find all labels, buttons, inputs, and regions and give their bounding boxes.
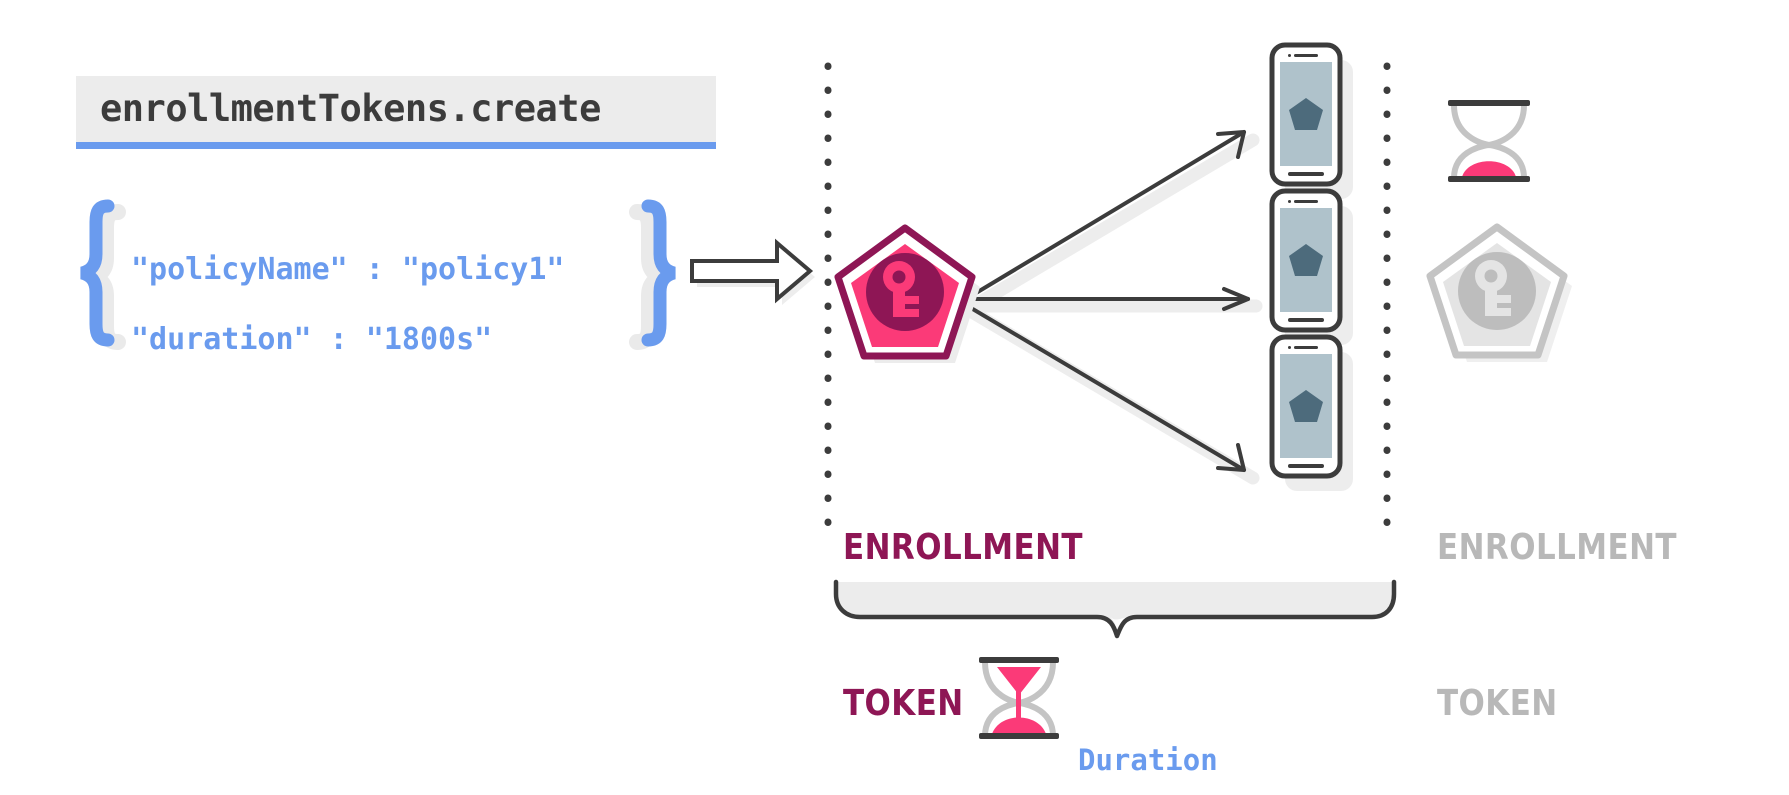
enrollment-token-label: ENROLLMENT TOKEN	[843, 418, 1083, 795]
api-header-label: enrollmentTokens.create	[100, 82, 720, 136]
hourglass-finished-icon	[1448, 100, 1530, 182]
request-body-line-1: "policyName" : "policy1"	[131, 252, 564, 287]
token-to-device-1-arrow	[966, 132, 1253, 307]
duration-callout-label: Duration 1800 seconds	[1078, 660, 1288, 795]
expires-label-line-1: ENROLLMENT	[1437, 522, 1677, 574]
enrollment-token-pentagon-key-icon	[838, 228, 980, 363]
request-body-open-brace	[82, 206, 118, 342]
duration-callout-line-1: Duration	[1078, 740, 1288, 780]
api-header-underline	[76, 142, 716, 149]
expires-label-line-2: TOKEN	[1437, 678, 1677, 730]
enrollment-token-expires-label: ENROLLMENT TOKEN EXPIRES	[1437, 418, 1677, 795]
enrollment-token-label-line-2: TOKEN	[843, 678, 1083, 730]
device-2	[1272, 191, 1353, 345]
device-1	[1272, 45, 1353, 199]
expired-token-pentagon-key-icon	[1430, 227, 1572, 362]
request-body-close-brace	[637, 206, 674, 342]
diagram-canvas: enrollmentTokens.create "policyName" : "…	[0, 0, 1789, 795]
device-3	[1272, 337, 1353, 491]
request-body-line-2: "duration" : "1800s"	[131, 322, 492, 357]
create-request-arrow	[692, 243, 815, 305]
enrollment-token-label-line-1: ENROLLMENT	[843, 522, 1083, 574]
